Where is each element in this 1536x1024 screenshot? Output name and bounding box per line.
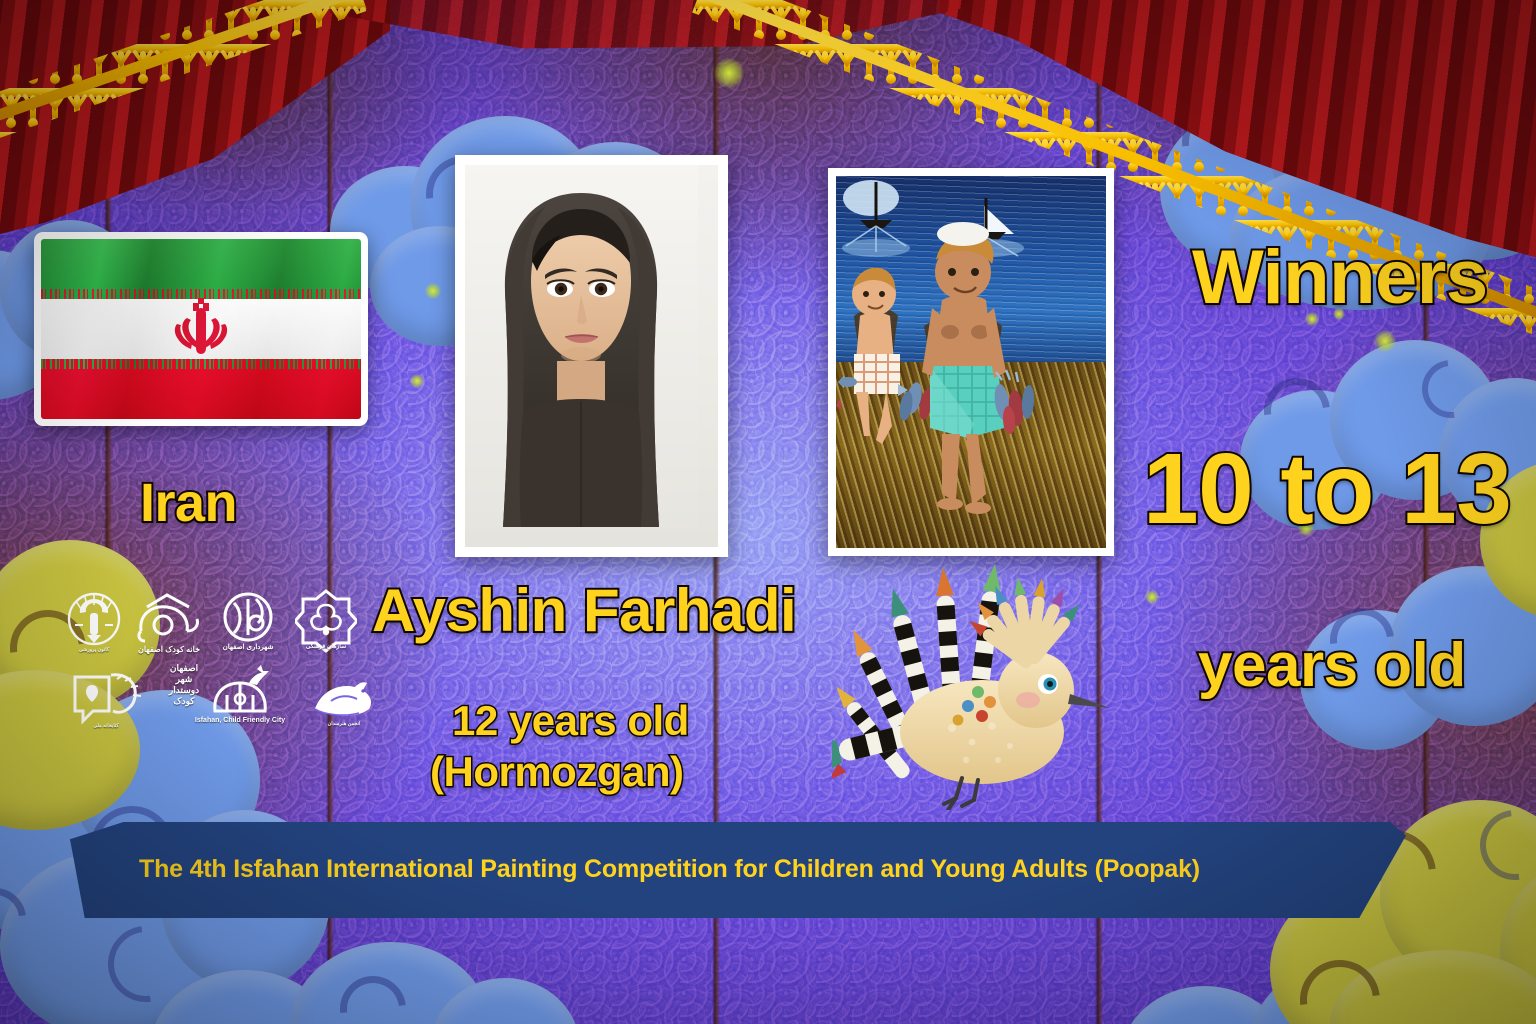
poster-canvas: Iran [0,0,1536,1024]
poster-vignette [0,0,1536,1024]
